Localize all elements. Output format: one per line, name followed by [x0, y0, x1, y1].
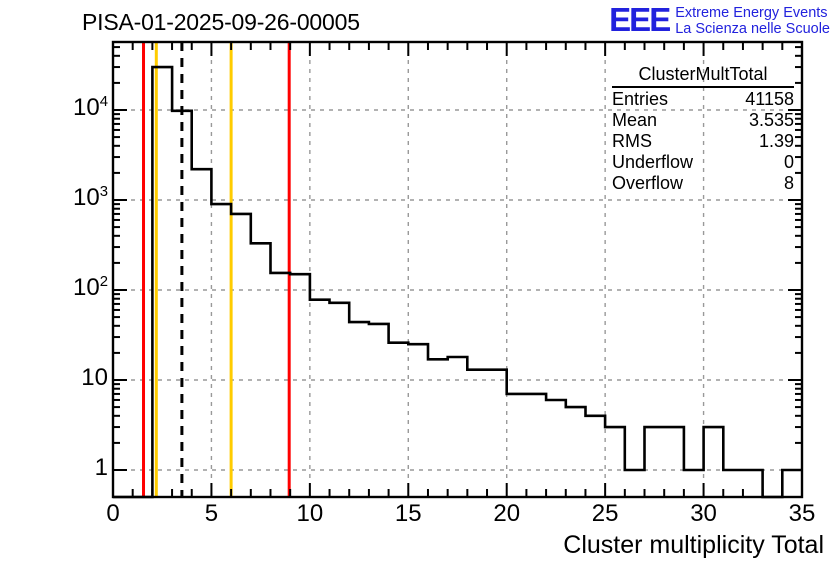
stats-row: Underflow0 [612, 152, 794, 173]
stats-row-value: 3.535 [749, 110, 794, 131]
stats-row: Entries41158 [612, 89, 794, 110]
eee-logo-text: Extreme Energy Events La Scienza nelle S… [675, 3, 830, 37]
x-tick-label: 30 [674, 500, 734, 528]
x-tick-label: 15 [378, 500, 438, 528]
stats-row: Overflow8 [612, 173, 794, 194]
stats-row: Mean3.535 [612, 110, 794, 131]
eee-logo-mark: EEE [609, 3, 669, 37]
stats-row-label: Entries [612, 89, 668, 110]
stats-row: RMS1.39 [612, 131, 794, 152]
page-title: PISA-01-2025-09-26-00005 [82, 9, 360, 36]
x-tick-label: 10 [280, 500, 340, 528]
stats-row-value: 0 [784, 152, 794, 173]
y-tick-label: 1 [30, 454, 108, 482]
x-tick-label: 25 [575, 500, 635, 528]
y-tick-label: 103 [30, 184, 108, 212]
x-tick-label: 5 [181, 500, 241, 528]
stats-rows: Entries41158Mean3.535RMS1.39Underflow0Ov… [612, 89, 794, 194]
stats-title: ClusterMultTotal [612, 64, 794, 88]
stats-row-label: Mean [612, 110, 657, 131]
stats-box: ClusterMultTotal Entries41158Mean3.535RM… [612, 64, 794, 194]
stats-row-label: Underflow [612, 152, 693, 173]
y-tick-label: 102 [30, 274, 108, 302]
y-tick-label: 104 [30, 94, 108, 122]
eee-logo: EEE Extreme Energy Events La Scienza nel… [609, 3, 830, 37]
x-axis-label: Cluster multiplicity Total [563, 531, 824, 560]
eee-logo-line1: Extreme Energy Events [675, 5, 830, 21]
stats-row-label: RMS [612, 131, 652, 152]
stats-row-value: 1.39 [759, 131, 794, 152]
stats-row-label: Overflow [612, 173, 683, 194]
y-tick-label: 10 [30, 364, 108, 392]
stats-row-value: 8 [784, 173, 794, 194]
x-tick-label: 35 [772, 500, 832, 528]
eee-logo-line2: La Scienza nelle Scuole [675, 21, 830, 37]
x-tick-label: 20 [477, 500, 537, 528]
x-tick-label: 0 [83, 500, 143, 528]
stats-row-value: 41158 [745, 89, 794, 110]
